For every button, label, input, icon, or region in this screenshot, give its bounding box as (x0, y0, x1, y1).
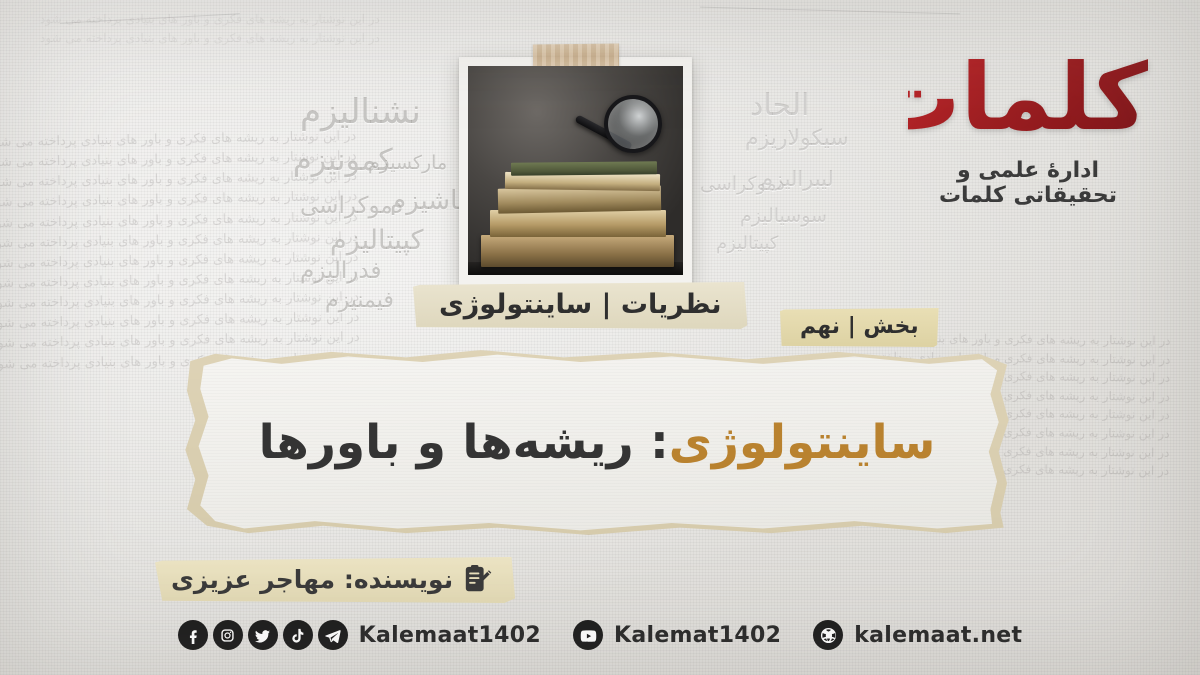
page-title-rest: : ریشه‌ها و باورها (259, 415, 669, 470)
background-term: نشنالیزم (300, 92, 421, 132)
category-ribbon: نظریات | ساینتولوژی (413, 282, 747, 329)
telegram-icon[interactable] (318, 620, 348, 650)
background-term: کپیتالیزم (716, 233, 778, 254)
background-term: لیبرالیزم (760, 167, 834, 191)
social-icon-set (813, 620, 843, 650)
article-photo-frame (459, 57, 692, 287)
background-term: الحاد (750, 88, 809, 123)
social-group: Kalemaat1402 (178, 620, 541, 650)
brand-logo: كلمات ادارۀ علمی و تحقیقاتی کلمات (908, 52, 1148, 208)
social-group: kalemaat.net (813, 620, 1022, 650)
background-term: کمونیزم (293, 143, 393, 178)
background-term: کپیتالیزم (330, 225, 424, 256)
background-term: سوسیالیزم (740, 205, 827, 227)
author-ribbon: نویسنده: مهاجر عزیزی (155, 557, 515, 603)
youtube-icon[interactable] (573, 620, 603, 650)
background-handwriting: در این نوشتار به ریشه های فکری و باور ها… (40, 10, 380, 47)
author-label: نویسنده: مهاجر عزیزی (171, 565, 453, 594)
tiktok-icon[interactable] (283, 620, 313, 650)
facebook-icon[interactable] (178, 620, 208, 650)
background-term: دموکراسی (700, 173, 785, 195)
background-term: سیکولاریزم (745, 126, 849, 151)
article-photo (468, 66, 683, 275)
part-badge: بخش | نهم (780, 308, 939, 347)
page-title: ساینتولوژی: ریشه‌ها و باورها (182, 350, 1012, 535)
social-handle[interactable]: kalemaat.net (854, 623, 1022, 648)
title-paper-sheet: ساینتولوژی: ریشه‌ها و باورها (182, 350, 1012, 535)
social-handle[interactable]: Kalemaat1402 (359, 623, 541, 648)
paper-scratch (60, 13, 240, 23)
background-term: مارکسیزم (368, 152, 447, 174)
social-footer: Kalemaat1402Kalemat1402kalemaat.net (0, 620, 1200, 650)
social-handle[interactable]: Kalemat1402 (614, 623, 781, 648)
background-term: فدرالیزم (300, 258, 381, 284)
background-term: فیمنیزم (325, 288, 394, 313)
paper-scratch (700, 7, 960, 15)
social-icon-set (178, 620, 348, 650)
social-icon-set (573, 620, 603, 650)
clipboard-pencil-icon (463, 564, 493, 594)
instagram-icon[interactable] (213, 620, 243, 650)
logo-subtitle: ادارۀ علمی و تحقیقاتی کلمات (908, 158, 1148, 208)
globe-icon[interactable] (813, 620, 843, 650)
magnifier-icon (604, 95, 662, 153)
poster-canvas: در این نوشتار به ریشه های فکری و باور ها… (0, 0, 1200, 675)
social-group: Kalemat1402 (573, 620, 781, 650)
background-term: دموکراسی (300, 193, 403, 219)
twitter-icon[interactable] (248, 620, 278, 650)
logo-wordmark: كلمات (908, 52, 1148, 144)
page-title-accent: ساینتولوژی (669, 415, 936, 470)
background-handwriting-left: در این نوشتار به ریشه های فکری و باور ها… (0, 127, 360, 375)
